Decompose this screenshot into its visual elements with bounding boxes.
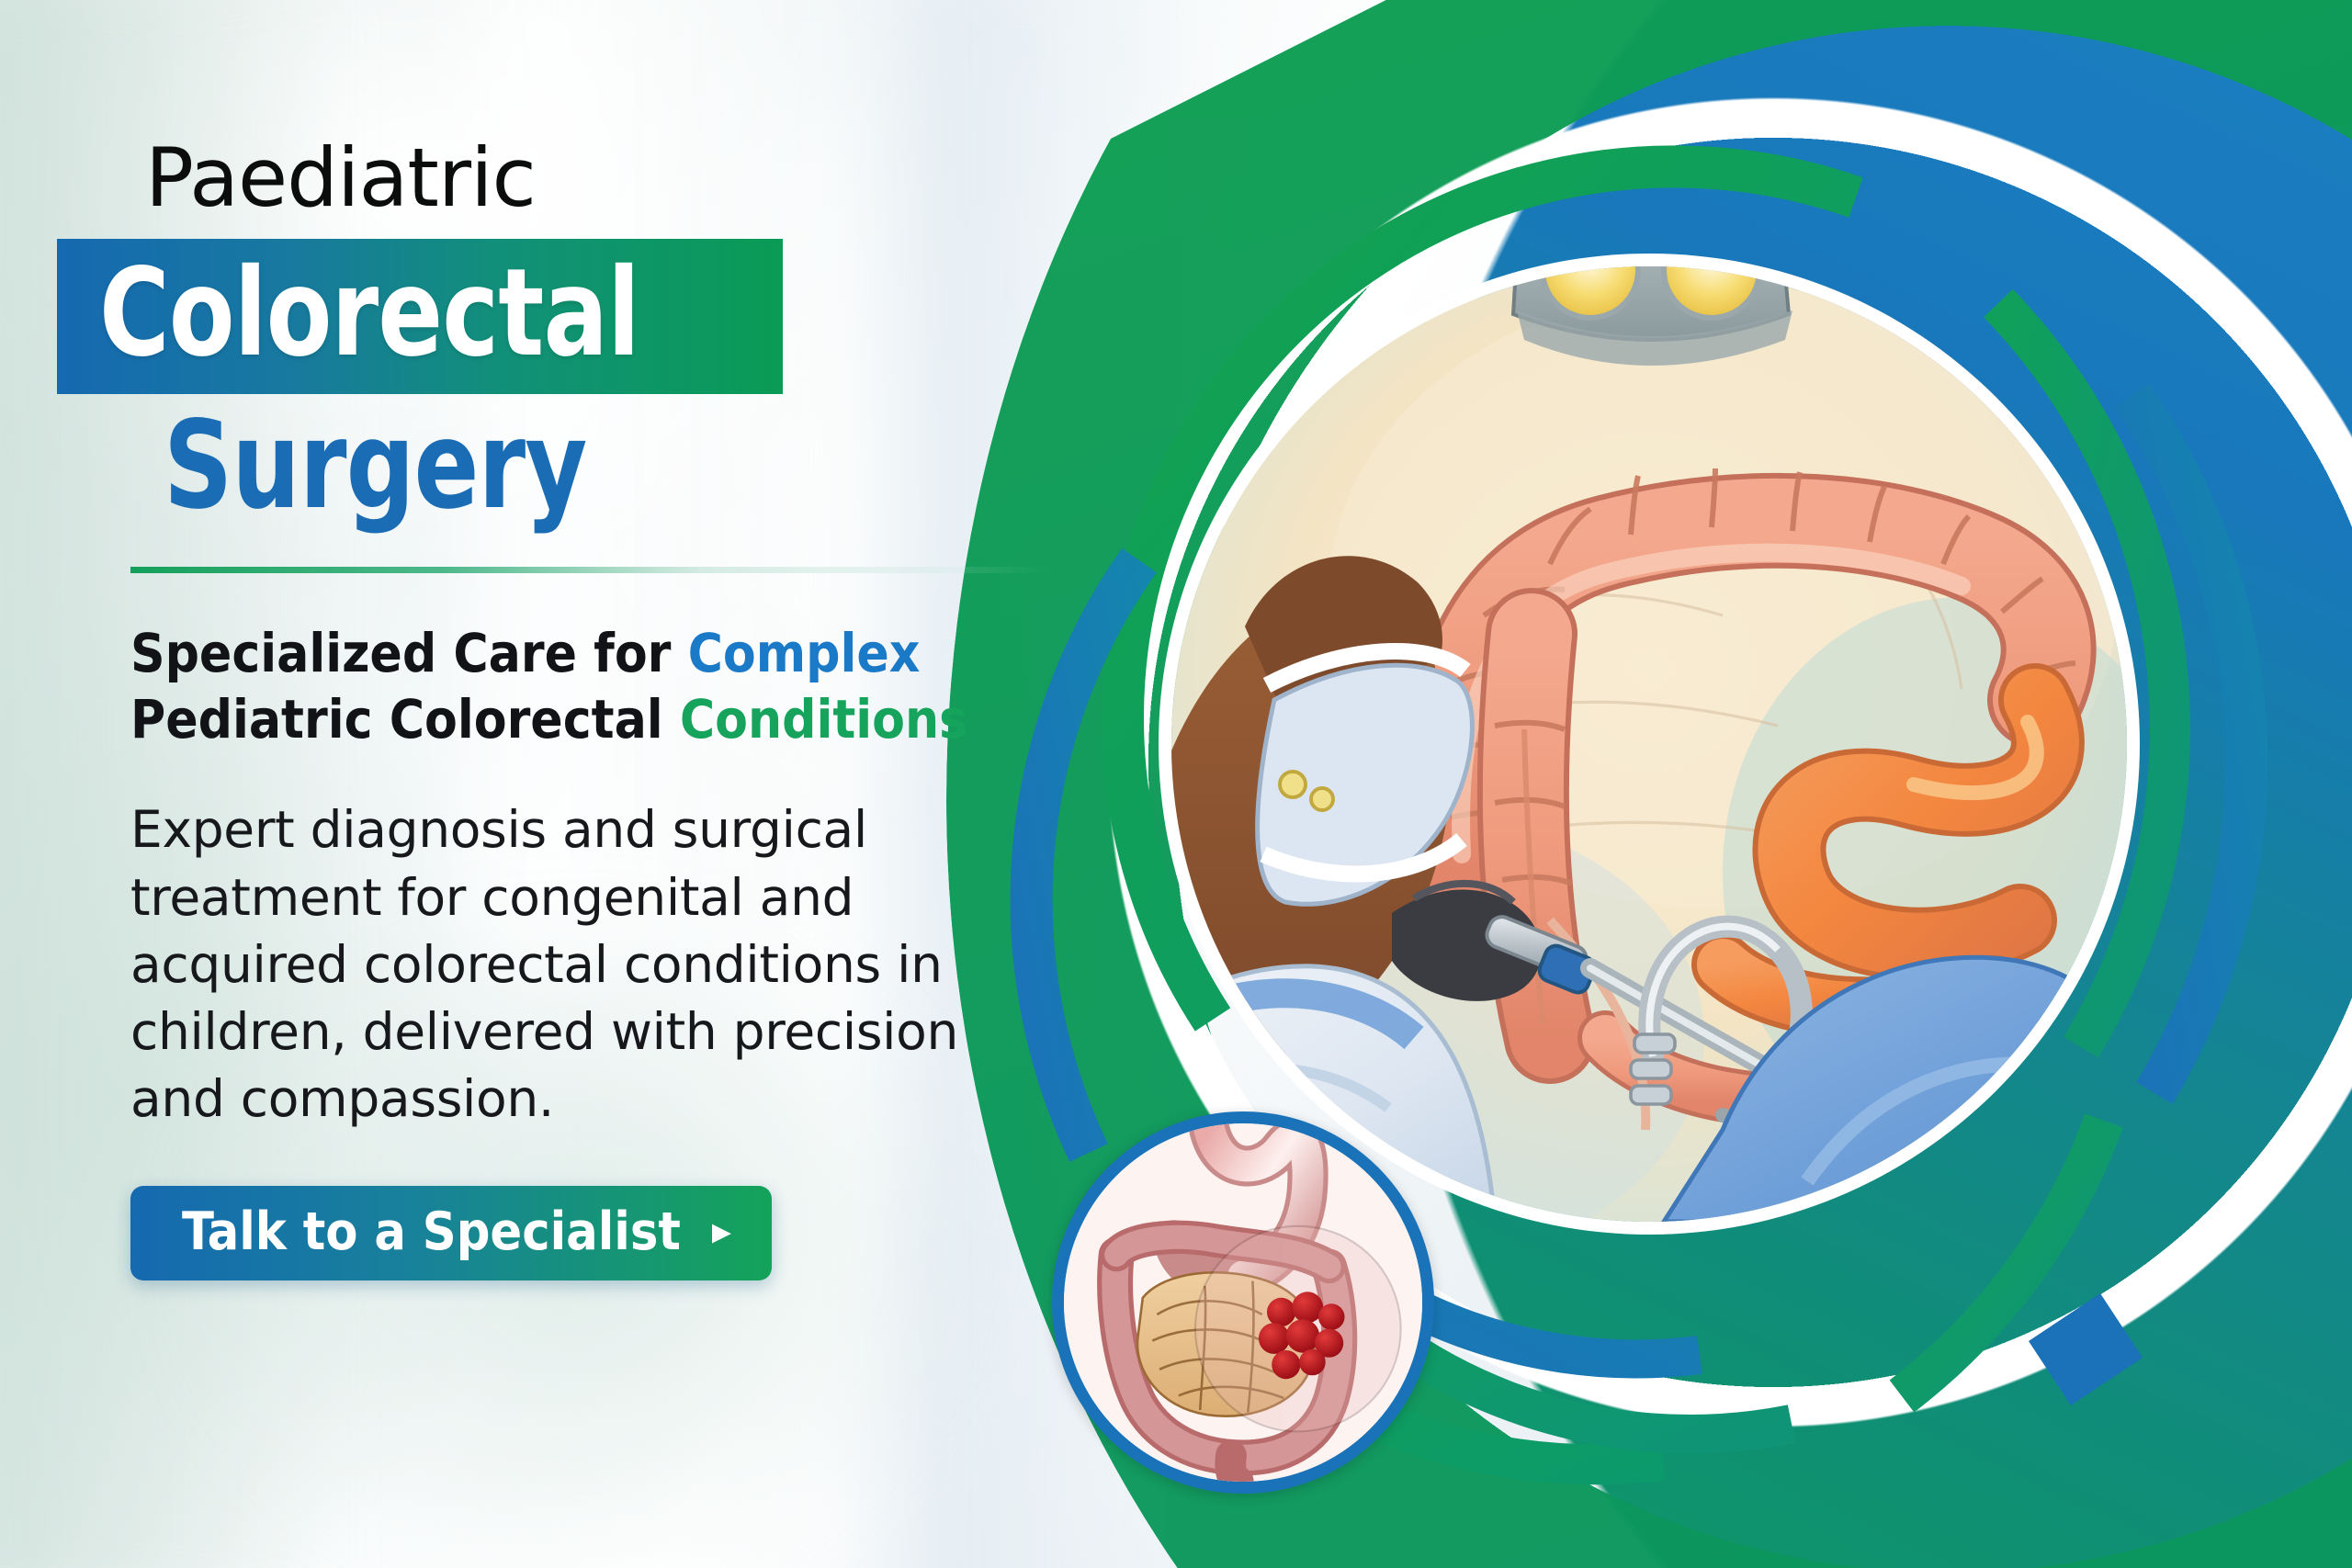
cta-label: Talk to a Specialist <box>182 1206 681 1258</box>
content-column: Paediatric Colorectal Surgery Specialize… <box>110 138 1093 1280</box>
chevron-right-icon: ▸ <box>712 1212 731 1250</box>
subheading-part1: Specialized Care for <box>130 622 688 684</box>
subheading-accent-complex: Complex <box>688 622 921 684</box>
kicker-text: Paediatric <box>145 138 1093 219</box>
hero-surgery-illustration <box>1171 266 2127 1222</box>
surgical-lamp <box>1513 266 1792 366</box>
title-secondary-text: Surgery <box>164 405 982 526</box>
subheading: Specialized Care for ComplexPediatric Co… <box>130 621 1058 753</box>
subheading-part2: Pediatric Colorectal <box>130 688 680 750</box>
banner-root: Paediatric Colorectal Surgery Specialize… <box>0 0 2352 1568</box>
digestive-tract-svg <box>1064 1123 1422 1482</box>
title-highlight-text: Colorectal <box>99 252 665 376</box>
title-highlight-bar: Colorectal <box>57 239 783 394</box>
section-divider <box>130 567 1049 573</box>
inset-anatomy-circle <box>1052 1111 1434 1494</box>
body-paragraph: Expert diagnosis and surgical treatment … <box>130 796 1049 1133</box>
surgery-scene-svg <box>1171 266 2127 1222</box>
talk-to-specialist-button[interactable]: Talk to a Specialist ▸ <box>130 1186 772 1280</box>
subheading-accent-conditions: Conditions <box>680 688 967 750</box>
